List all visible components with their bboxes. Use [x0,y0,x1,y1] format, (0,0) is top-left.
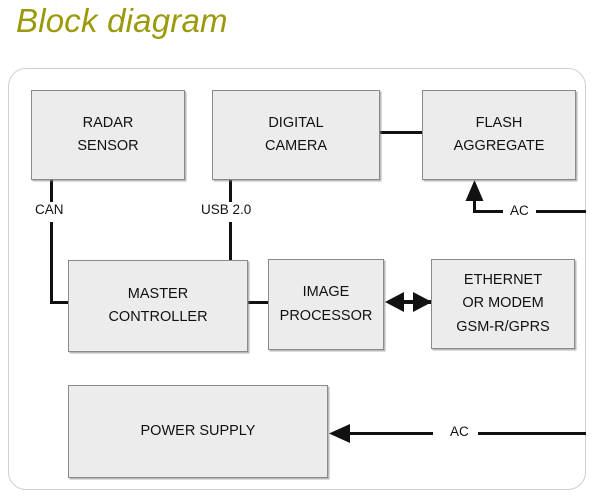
connector-ac-flash-stub-right [536,210,586,213]
node-master-controller-line1: MASTER [128,283,188,306]
connector-radar-can-lower [50,222,53,304]
connector-ac-power-stub-left [345,432,433,435]
edge-label-usb: USB 2.0 [198,202,254,217]
node-master-controller[interactable]: MASTER CONTROLLER [68,260,248,352]
node-image-processor-line2: PROCESSOR [280,305,373,328]
block-diagram-canvas: Block diagram RADAR SENSOR DIGITAL [0,0,600,503]
edge-label-ac-flash: AC [507,203,532,218]
page-title: Block diagram [16,2,228,40]
node-ethernet-modem-line1: ETHERNET [464,269,542,292]
edge-label-ac-power: AC [447,424,472,439]
node-flash-aggregate-line2: AGGREGATE [454,135,545,158]
connector-usb-into-master [229,222,232,262]
node-master-controller-line2: CONTROLLER [108,306,207,329]
node-image-processor[interactable]: IMAGE PROCESSOR [268,259,384,350]
connector-master-to-image [247,301,269,304]
connector-ac-flash-stub-left [473,210,503,213]
node-radar-sensor-line1: RADAR [83,112,134,135]
node-power-supply-line1: POWER SUPPLY [141,420,256,443]
node-ethernet-modem[interactable]: ETHERNET OR MODEM GSM-R/GPRS [431,259,575,349]
node-radar-sensor-line2: SENSOR [77,135,138,158]
node-ethernet-modem-line3: GSM-R/GPRS [456,316,549,339]
connector-radar-can-upper [50,180,53,202]
edge-label-can: CAN [32,202,67,217]
node-digital-camera[interactable]: DIGITAL CAMERA [212,90,380,180]
node-radar-sensor[interactable]: RADAR SENSOR [31,90,185,180]
node-digital-camera-line2: CAMERA [265,135,327,158]
node-digital-camera-line1: DIGITAL [268,112,323,135]
connector-camera-usb-upper [229,180,232,202]
connector-camera-to-flash [380,131,422,134]
connector-can-into-master [50,301,70,304]
node-flash-aggregate-line1: FLASH [476,112,523,135]
connector-ac-power-stub-right [478,432,586,435]
node-flash-aggregate[interactable]: FLASH AGGREGATE [422,90,576,180]
node-power-supply[interactable]: POWER SUPPLY [68,385,328,478]
node-ethernet-modem-line2: OR MODEM [462,292,543,315]
node-image-processor-line1: IMAGE [303,281,350,304]
